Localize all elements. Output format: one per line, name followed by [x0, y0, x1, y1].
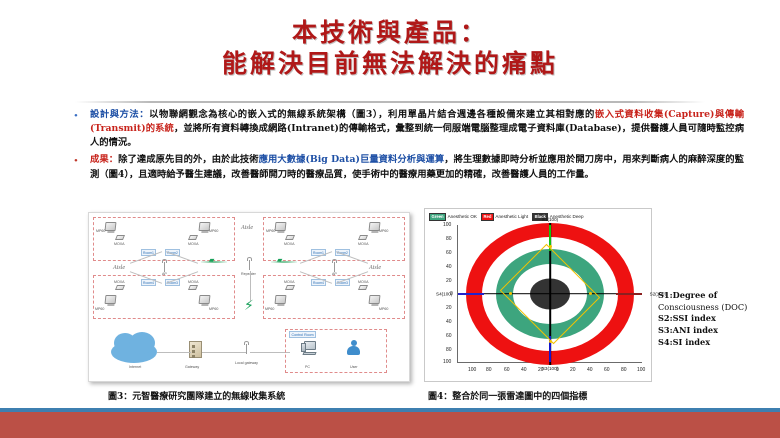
access-point-label: AP: [162, 272, 167, 276]
legend-swatch-red: Red: [481, 213, 494, 221]
ytick-0: 0: [450, 291, 453, 297]
radar-plot-area: S1(100) S2(100) S3(100) S4(100) 100 80 6…: [457, 225, 642, 363]
monitor-label: MP60: [96, 229, 105, 233]
page-title-line-2: 能解決目前無法解決的痛點: [0, 49, 780, 80]
index-legend-s1: S1:Degree of: [658, 290, 717, 300]
gateway-icon: [189, 341, 202, 358]
bullet-label-design: 設計與方法：: [90, 109, 149, 120]
bullet-seg-result-2: 應用大數據(Big Data)巨量資料分析與運算: [259, 154, 445, 165]
xtick-80-left: 80: [486, 367, 492, 373]
ytick-100-bot: 100: [443, 359, 451, 365]
data-point-s3: [549, 340, 552, 343]
data-point-s1: [549, 245, 552, 248]
aisle-label-left: Aisle: [113, 265, 125, 271]
page-title-line-1: 本技術與產品：: [0, 18, 780, 49]
pc-label: PC: [305, 365, 310, 369]
moxa-label: MOXA: [284, 242, 295, 246]
monitor-icon: [275, 295, 287, 304]
moxa-label: MOXA: [114, 242, 125, 246]
monitor-label: MP60: [266, 229, 275, 233]
access-point-icon: [332, 259, 337, 272]
monitor-icon: [199, 295, 211, 304]
xtick-80-right: 80: [621, 367, 627, 373]
xtick-40-right: 40: [587, 367, 593, 373]
ytick-80-top: 80: [446, 236, 452, 242]
pc-tower-icon: [301, 343, 306, 352]
bullet-seg-design-1: 以物聯網觀念為核心的嵌入式的無線系統架構（圖3），利用單晶片結合週邊各種設備來建…: [149, 109, 595, 120]
monitor-label: MP60: [379, 307, 388, 311]
index-legend-line-5: S4:SI index: [658, 337, 778, 349]
bullet-marker-icon: •: [74, 111, 78, 122]
index-legend-line-1: S1:Degree of: [658, 290, 778, 302]
monitor-label: MP60: [95, 307, 104, 311]
wireless-signal-icon: [271, 261, 297, 263]
gateway-label: Gateway: [185, 365, 199, 369]
bullet-list: • 設計與方法：以物聯網觀念為核心的嵌入式的無線系統架構（圖3），利用單晶片結合…: [72, 108, 744, 185]
access-point-label: AP: [332, 272, 337, 276]
moxa-label: MOXA: [188, 280, 199, 284]
wireless-bolt-icon: ⚡: [244, 299, 254, 313]
axis-label-s1: S1(100): [542, 217, 558, 222]
ytick-20-bot: 20: [446, 305, 452, 311]
index-legend-line-4: S3:ANI index: [658, 325, 778, 337]
moxa-label: MOXA: [284, 280, 295, 284]
wireless-bolt-icon: ▰: [209, 257, 214, 264]
index-legend-line-3: S2:SSI index: [658, 313, 778, 325]
data-point-s4: [509, 292, 512, 295]
user-body-icon: [347, 346, 360, 355]
bullet-text-design: 設計與方法：以物聯網觀念為核心的嵌入式的無線系統架構（圖3），利用單晶片結合週邊…: [90, 108, 744, 150]
figure-4-radar-chart: Green Anesthetic OK Red Anesthetic Light…: [424, 208, 652, 382]
title-divider: [75, 101, 705, 103]
ytick-40-bot: 40: [446, 319, 452, 325]
index-legend-s3: S3:ANI index: [658, 325, 718, 335]
xtick-60-left: 60: [504, 367, 510, 373]
wireless-bolt-icon: ▰: [277, 257, 282, 264]
index-legend-list: S1:Degree of Consciousness (DOC) S2:SSI …: [658, 290, 778, 348]
aisle-label-right: Aisle: [369, 265, 381, 271]
pc-screen-icon: [304, 341, 316, 350]
pc-icon: [301, 341, 317, 355]
local-gateway-label: Local gateway: [235, 361, 258, 365]
access-point-icon: [162, 259, 167, 272]
xtick-100-right: 100: [637, 367, 645, 373]
pc-keyboard-icon: [302, 352, 316, 355]
xtick-20-left: 20: [538, 367, 544, 373]
data-point-s2: [589, 292, 592, 295]
legend-swatch-green: Green: [429, 213, 446, 221]
spoke-s4: [458, 293, 484, 295]
user-label: User: [350, 365, 358, 369]
ytick-40-top: 40: [446, 264, 452, 270]
monitor-label: MP60: [379, 229, 388, 233]
internet-label: Internet: [129, 365, 141, 369]
xtick-20-right: 20: [570, 367, 576, 373]
control-room-label: Control Room: [289, 331, 316, 338]
repeater-icon: [247, 257, 252, 270]
ytick-60-bot: 60: [446, 333, 452, 339]
monitor-icon: [369, 295, 381, 304]
figure-3-caption: 圖3：元智醫療研究團隊建立的無線收集系統: [108, 389, 285, 402]
legend-label-green: Anesthetic OK: [448, 214, 477, 219]
list-item: • 設計與方法：以物聯網觀念為核心的嵌入式的無線系統架構（圖3），利用單晶片結合…: [72, 108, 744, 150]
figure-4-caption: 圖4：整合於同一張雷達圖中的四個指標: [428, 389, 587, 402]
monitor-label: MP60: [265, 307, 274, 311]
monitor-icon: [105, 222, 117, 231]
internet-cloud-icon: [111, 341, 157, 363]
user-icon: [347, 340, 360, 355]
bullet-marker-icon: •: [74, 156, 78, 167]
bullet-label-result: 成果：: [90, 154, 118, 165]
ytick-80-bot: 80: [446, 347, 452, 353]
xtick-0: 0: [556, 367, 559, 373]
index-legend-s2: S2:SSI index: [658, 313, 716, 323]
monitor-icon: [105, 295, 117, 304]
bullet-seg-design-3: ，並將所有資料轉換成網路(Intranet)的傳輸格式，彙整到統一伺服端電腦整理…: [90, 123, 744, 148]
repeater-label: Repeater: [241, 272, 256, 276]
xtick-100-left: 100: [468, 367, 476, 373]
index-legend-line-2: Consciousness (DOC): [658, 302, 778, 314]
monitor-label: MP60: [209, 229, 218, 233]
link-line: [202, 352, 246, 353]
link-line: [250, 271, 251, 301]
moxa-label: MOXA: [358, 280, 369, 284]
moxa-label: MOXA: [114, 280, 125, 284]
bullet-seg-result-1: 除了達成原先目的外，由於此技術: [118, 154, 259, 165]
monitor-icon: [275, 222, 287, 231]
spoke-s2: [616, 293, 642, 295]
xtick-40-left: 40: [521, 367, 527, 373]
moxa-label: MOXA: [188, 242, 199, 246]
legend-item-green: Green Anesthetic OK: [429, 213, 477, 221]
legend-label-red: Anesthetic Light: [495, 214, 528, 219]
link-line: [250, 352, 290, 353]
list-item: • 成果：除了達成原先目的外，由於此技術應用大數據(Big Data)巨量資料分…: [72, 153, 744, 181]
ytick-60-top: 60: [446, 250, 452, 256]
link-line: [157, 352, 191, 353]
figure-3-network-diagram: Aisle Aisle Aisle MP60 MOXA MP60 MOXA Ro…: [88, 212, 410, 382]
legend-item-red: Red Anesthetic Light: [481, 213, 528, 221]
footer-bar: [0, 412, 780, 438]
monitor-label: MP60: [209, 307, 218, 311]
ytick-100-top: 100: [443, 222, 451, 228]
page-title: 本技術與產品： 能解決目前無法解決的痛點: [0, 18, 780, 79]
moxa-label: MOXA: [358, 242, 369, 246]
bullet-text-result: 成果：除了達成原先目的外，由於此技術應用大數據(Big Data)巨量資料分析與…: [90, 153, 744, 181]
chart-legend: Green Anesthetic OK Red Anesthetic Light…: [429, 211, 651, 222]
index-legend-s4: S4:SI index: [658, 337, 710, 347]
ytick-20-top: 20: [446, 278, 452, 284]
xtick-60-right: 60: [604, 367, 610, 373]
aisle-label-center: Aisle: [241, 225, 253, 231]
